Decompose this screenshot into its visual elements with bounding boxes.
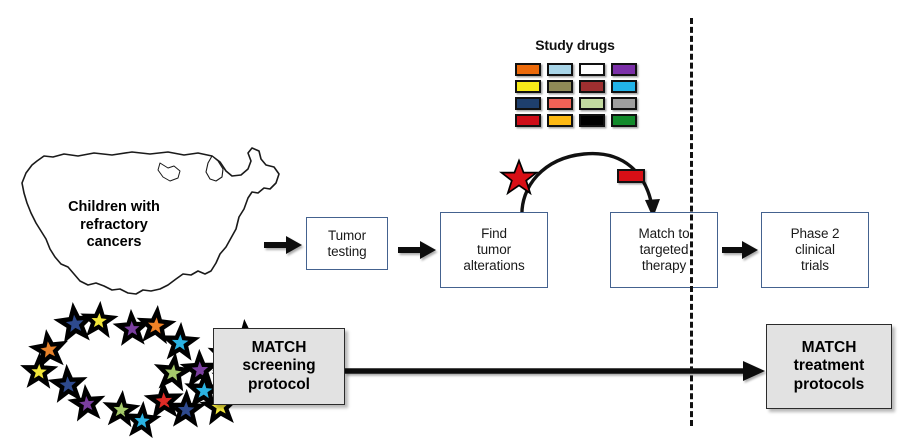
drug-swatch — [579, 114, 605, 127]
map-star — [142, 311, 171, 339]
dashed-divider — [690, 18, 693, 426]
red-drug-swatch-marker — [615, 167, 647, 184]
drug-swatch — [547, 97, 573, 110]
drug-swatch — [611, 80, 637, 93]
map-star — [166, 328, 194, 355]
drug-cell-r1-c1 — [512, 61, 544, 78]
drug-cell-r4-c2 — [544, 112, 576, 129]
drug-swatch — [547, 80, 573, 93]
box-match-to-targeted-therapy[interactable]: Match to targeted therapy — [610, 212, 718, 288]
map-star — [54, 370, 82, 397]
drug-swatch — [515, 114, 541, 127]
drug-cell-r3-c2 — [544, 95, 576, 112]
study-drugs-title: Study drugs — [505, 37, 645, 53]
box-match-treatment-protocols-label: MATCH treatment protocols — [794, 339, 865, 395]
drug-cell-r2-c1 — [512, 78, 544, 95]
arrow-map-to-tumor-testing — [262, 232, 306, 258]
map-star — [26, 359, 52, 383]
drug-cell-r2-c3 — [576, 78, 608, 95]
drug-swatch — [547, 114, 573, 127]
box-phase-2-clinical-trials-label: Phase 2 clinical trials — [791, 226, 840, 274]
box-tumor-testing-label: Tumor testing — [327, 228, 366, 260]
arrow-tumor-testing-to-find — [396, 237, 440, 263]
diagram-canvas: Children with refractory cancers Study d… — [0, 0, 900, 443]
box-match-screening-protocol-label: MATCH screening protocol — [242, 339, 315, 395]
box-find-tumor-alterations-label: Find tumor alterations — [463, 226, 524, 274]
drug-cell-r1-c3 — [576, 61, 608, 78]
drug-swatch — [515, 97, 541, 110]
drug-cell-r2-c4 — [608, 78, 640, 95]
curve-path — [522, 154, 652, 218]
drug-swatch-red — [617, 169, 645, 183]
box-phase-2-clinical-trials[interactable]: Phase 2 clinical trials — [761, 212, 869, 288]
arrow-match-to-phase2 — [720, 237, 762, 263]
arrow-screening-to-treatment — [343, 358, 771, 384]
drug-swatch — [515, 80, 541, 93]
box-tumor-testing[interactable]: Tumor testing — [306, 217, 388, 270]
drug-cell-r4-c4 — [608, 112, 640, 129]
drug-cell-r3-c3 — [576, 95, 608, 112]
drug-swatch — [547, 63, 573, 76]
drug-swatch — [611, 114, 637, 127]
drug-cell-r2-c2 — [544, 78, 576, 95]
drug-swatch — [579, 97, 605, 110]
drug-cell-r3-c4 — [608, 95, 640, 112]
drug-cell-r4-c1 — [512, 112, 544, 129]
drug-swatch — [611, 63, 637, 76]
map-star — [86, 307, 112, 332]
map-star — [59, 308, 90, 338]
box-match-to-targeted-therapy-label: Match to targeted therapy — [639, 226, 690, 274]
map-star — [129, 407, 155, 432]
study-drugs-grid — [512, 61, 640, 129]
drug-swatch — [611, 97, 637, 110]
drug-swatch — [515, 63, 541, 76]
drug-cell-r1-c2 — [544, 61, 576, 78]
box-find-tumor-alterations[interactable]: Find tumor alterations — [440, 212, 548, 288]
box-match-screening-protocol[interactable]: MATCH screening protocol — [213, 328, 345, 405]
drug-cell-r4-c3 — [576, 112, 608, 129]
drug-swatch — [579, 80, 605, 93]
map-star-field — [8, 143, 288, 308]
red-star-marker — [502, 161, 536, 195]
box-match-treatment-protocols[interactable]: MATCH treatment protocols — [766, 324, 892, 409]
drug-cell-r1-c4 — [608, 61, 640, 78]
drug-swatch — [579, 63, 605, 76]
drug-cell-r3-c1 — [512, 95, 544, 112]
